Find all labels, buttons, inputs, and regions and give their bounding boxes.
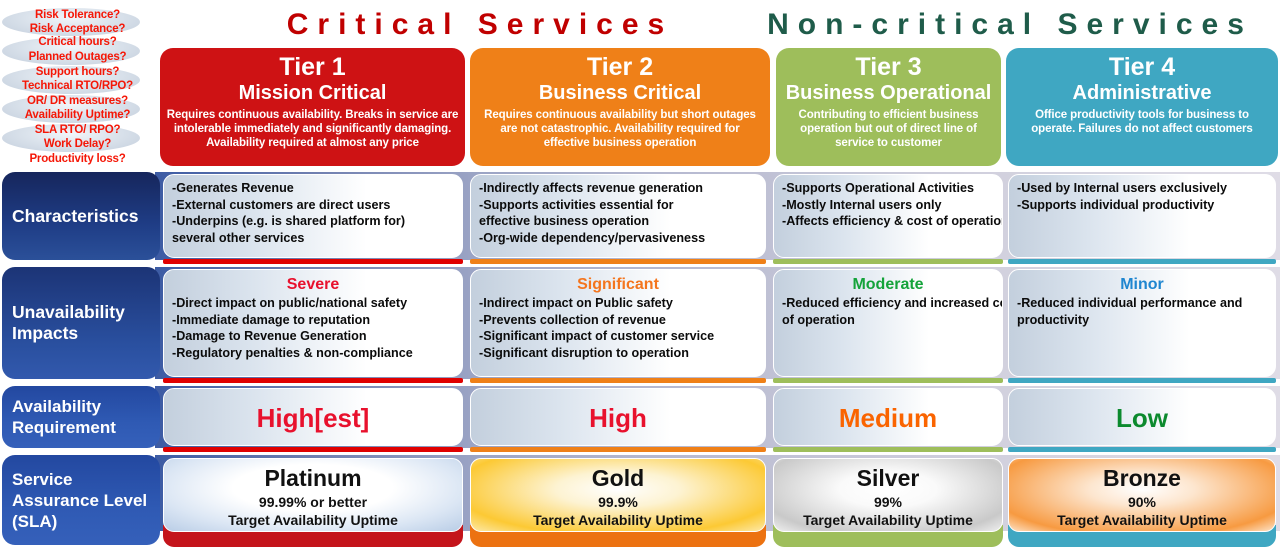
impact-title: Significant: [479, 275, 757, 294]
group-heading-non-critical-services: Non-critical Services: [740, 8, 1280, 42]
cell-impacts-tier-4[interactable]: Minor -Reduced individual performance an…: [1008, 269, 1276, 377]
impact-title: Minor: [1017, 275, 1267, 294]
question-item: Availability Uptime?: [0, 109, 155, 121]
column-underbar-tier-2: [470, 378, 766, 383]
column-underbar-tier-3: [773, 447, 1003, 452]
sla-percentage: 99.99% or better: [172, 493, 454, 511]
availability-value: Medium: [839, 403, 937, 433]
cell-impacts-tier-2[interactable]: Significant -Indirect impact on Public s…: [470, 269, 766, 377]
impact-title: Moderate: [782, 275, 994, 294]
column-underbar-tier-1: [163, 378, 463, 383]
list-item: -Significant impact of customer service: [479, 328, 757, 345]
cell-impacts-tier-3[interactable]: Moderate -Reduced efficiency and increas…: [773, 269, 1003, 377]
list-item: productivity: [1017, 312, 1267, 329]
availability-value: High[est]: [257, 403, 370, 433]
tier-header-tier-2[interactable]: Tier 2 Business Critical Requires contin…: [470, 48, 770, 166]
cell-availability-tier-4[interactable]: Low: [1008, 388, 1276, 446]
question-item: Support hours?: [0, 66, 155, 78]
question-item: Risk Tolerance?: [0, 9, 155, 21]
list-item: -Significant disruption to operation: [479, 345, 757, 362]
column-underbar-tier-4: [1008, 259, 1276, 264]
list-item: of operation: [782, 312, 994, 329]
tier-number: Tier 1: [166, 53, 459, 81]
sla-name: Gold: [479, 465, 757, 492]
list-item: -Immediate damage to reputation: [172, 312, 454, 329]
list-item: -Regulatory penalties & non-compliance: [172, 345, 454, 362]
tier-description: Requires continuous availability. Breaks…: [166, 108, 459, 150]
tier-number: Tier 2: [476, 53, 764, 81]
cell-sla-tier-2[interactable]: Gold 99.9% Target Availability Uptime: [470, 458, 766, 532]
sla-name: Bronze: [1017, 465, 1267, 492]
list-item: -Reduced individual performance and: [1017, 295, 1267, 312]
column-underbar-tier-3: [773, 259, 1003, 264]
availability-value: Low: [1116, 403, 1168, 433]
sla-percentage: 99%: [782, 493, 994, 511]
sla-subtitle: Target Availability Uptime: [782, 511, 994, 529]
list-item: -Indirect impact on Public safety: [479, 295, 757, 312]
sla-subtitle: Target Availability Uptime: [1017, 511, 1267, 529]
tier-name: Administrative: [1012, 82, 1272, 105]
list-item: -Reduced efficiency and increased cost: [782, 295, 994, 312]
list-item: -Supports individual productivity: [1017, 197, 1267, 214]
list-item: -Damage to Revenue Generation: [172, 328, 454, 345]
list-item: -Used by Internal users exclusively: [1017, 180, 1267, 197]
cell-availability-tier-2[interactable]: High: [470, 388, 766, 446]
tier-name: Mission Critical: [166, 82, 459, 105]
tier-number: Tier 3: [782, 53, 995, 81]
row-label-unavailability-impacts: Unavailability Impacts: [2, 267, 160, 379]
column-underbar-tier-4: [1008, 447, 1276, 452]
list-item: -Org-wide dependency/pervasiveness: [479, 230, 757, 247]
cell-impacts-tier-1[interactable]: Severe -Direct impact on public/national…: [163, 269, 463, 377]
question-item: Planned Outages?: [0, 51, 155, 63]
question-item: Productivity loss?: [0, 153, 155, 165]
question-item: OR/ DR measures?: [0, 95, 155, 107]
list-item: -Prevents collection of revenue: [479, 312, 757, 329]
sla-percentage: 99.9%: [479, 493, 757, 511]
column-underbar-tier-1: [163, 259, 463, 264]
cell-sla-tier-3[interactable]: Silver 99% Target Availability Uptime: [773, 458, 1003, 532]
cell-sla-tier-4[interactable]: Bronze 90% Target Availability Uptime: [1008, 458, 1276, 532]
row-label-availability-requirement: Availability Requirement: [2, 386, 160, 448]
cell-availability-tier-1[interactable]: High[est]: [163, 388, 463, 446]
list-item: -Underpins (e.g. is shared platform for): [172, 213, 454, 230]
tier-number: Tier 4: [1012, 53, 1272, 81]
availability-value: High: [589, 403, 647, 433]
column-underbar-tier-2: [470, 447, 766, 452]
list-item: effective business operation: [479, 213, 757, 230]
sla-percentage: 90%: [1017, 493, 1267, 511]
risk-questions-group: Risk Tolerance? Risk Acceptance? Critica…: [0, 4, 155, 169]
cell-characteristics-tier-3[interactable]: -Supports Operational Activities -Mostly…: [773, 174, 1003, 258]
column-underbar-tier-3: [773, 378, 1003, 383]
row-label-characteristics: Characteristics: [2, 172, 160, 260]
list-item: -Supports Operational Activities: [782, 180, 994, 197]
tier-name: Business Operational: [782, 82, 995, 105]
tier-header-tier-1[interactable]: Tier 1 Mission Critical Requires continu…: [160, 48, 465, 166]
tier-description: Contributing to efficient business opera…: [782, 108, 995, 150]
list-item: -Direct impact on public/national safety: [172, 295, 454, 312]
tier-name: Business Critical: [476, 82, 764, 105]
list-item: -Generates Revenue: [172, 180, 454, 197]
tier-header-tier-3[interactable]: Tier 3 Business Operational Contributing…: [776, 48, 1001, 166]
sla-subtitle: Target Availability Uptime: [172, 511, 454, 529]
cell-characteristics-tier-4[interactable]: -Used by Internal users exclusively -Sup…: [1008, 174, 1276, 258]
cell-sla-tier-1[interactable]: Platinum 99.99% or better Target Availab…: [163, 458, 463, 532]
question-item: Work Delay?: [0, 138, 155, 150]
cell-characteristics-tier-2[interactable]: -Indirectly affects revenue generation -…: [470, 174, 766, 258]
question-item: Risk Acceptance?: [0, 23, 155, 35]
list-item: -Indirectly affects revenue generation: [479, 180, 757, 197]
list-item: several other services: [172, 230, 454, 247]
list-item: -Affects efficiency & cost of operation: [782, 213, 994, 230]
question-item: Technical RTO/RPO?: [0, 80, 155, 92]
sla-name: Silver: [782, 465, 994, 492]
column-underbar-tier-2: [470, 259, 766, 264]
list-item: -Mostly Internal users only: [782, 197, 994, 214]
list-item: -Supports activities essential for: [479, 197, 757, 214]
impact-title: Severe: [172, 275, 454, 294]
row-label-service-assurance-level: Service Assurance Level (SLA): [2, 455, 160, 545]
cell-characteristics-tier-1[interactable]: -Generates Revenue -External customers a…: [163, 174, 463, 258]
sla-subtitle: Target Availability Uptime: [479, 511, 757, 529]
group-heading-critical-services: Critical Services: [160, 8, 800, 42]
cell-availability-tier-3[interactable]: Medium: [773, 388, 1003, 446]
question-item: Critical hours?: [0, 36, 155, 48]
sla-name: Platinum: [172, 465, 454, 492]
column-underbar-tier-4: [1008, 378, 1276, 383]
column-underbar-tier-1: [163, 447, 463, 452]
tier-description: Office productivity tools for business t…: [1012, 108, 1272, 136]
list-item: -External customers are direct users: [172, 197, 454, 214]
tier-header-tier-4[interactable]: Tier 4 Administrative Office productivit…: [1006, 48, 1278, 166]
question-item: SLA RTO/ RPO?: [0, 124, 155, 136]
service-tier-matrix: Risk Tolerance? Risk Acceptance? Critica…: [0, 0, 1280, 553]
tier-description: Requires continuous availability but sho…: [476, 108, 764, 150]
